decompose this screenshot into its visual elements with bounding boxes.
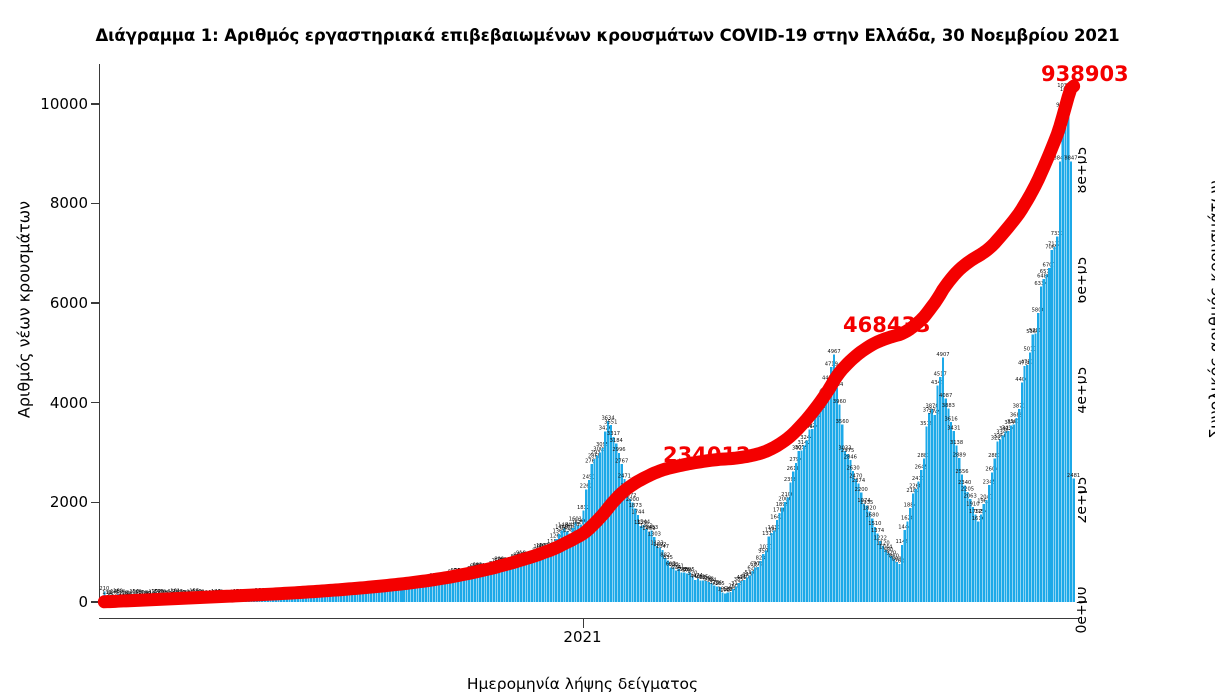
- annotation-cumulative-early: 234012: [663, 443, 751, 467]
- y-tick-label: 2000: [50, 493, 88, 511]
- annotation-cumulative-mid: 468433: [843, 313, 931, 337]
- y-tick-label: 0: [78, 593, 88, 611]
- y-tick-label: 10000: [40, 95, 88, 113]
- y-tick-mark: [91, 302, 99, 303]
- chart-root: Διάγραμμα 1: Αριθμός εργαστηριακά επιβεβ…: [0, 0, 1215, 700]
- x-axis-tick-2021: [583, 619, 584, 628]
- cumulative-cases-line: [104, 86, 1073, 602]
- page-title: Διάγραμμα 1: Αριθμός εργαστηριακά επιβεβ…: [0, 26, 1215, 45]
- y-tick-mark: [91, 402, 99, 403]
- x-axis-line: [99, 618, 1079, 619]
- x-axis-title: Ημερομηνία λήψης δείγματος: [0, 675, 1215, 693]
- y-tick-mark: [91, 601, 99, 602]
- y-tick-label: 4000: [50, 394, 88, 412]
- y-axis-right-title: Συνολικός αριθμός κρουσμάτων: [1206, 80, 1215, 540]
- y-tick-label: 6000: [50, 294, 88, 312]
- plot-area: 2101319512014516013911810296121150143132…: [100, 64, 1078, 602]
- annotation-cumulative-total: 938903: [1041, 62, 1129, 86]
- cumulative-line-layer: [100, 64, 1078, 602]
- x-axis-title-text: Ημερομηνία λήψης δείγματος: [467, 675, 698, 693]
- y-tick-label: 8000: [50, 194, 88, 212]
- y-tick-mark: [91, 203, 99, 204]
- y-tick-mark: [91, 502, 99, 503]
- x-tick-label-text: 2021: [563, 628, 601, 646]
- y-axis-left-title: Αριθμός νέων κρουσμάτων: [15, 80, 34, 540]
- x-axis-tick-label: 2021: [0, 628, 1215, 646]
- y-tick-mark: [91, 103, 99, 104]
